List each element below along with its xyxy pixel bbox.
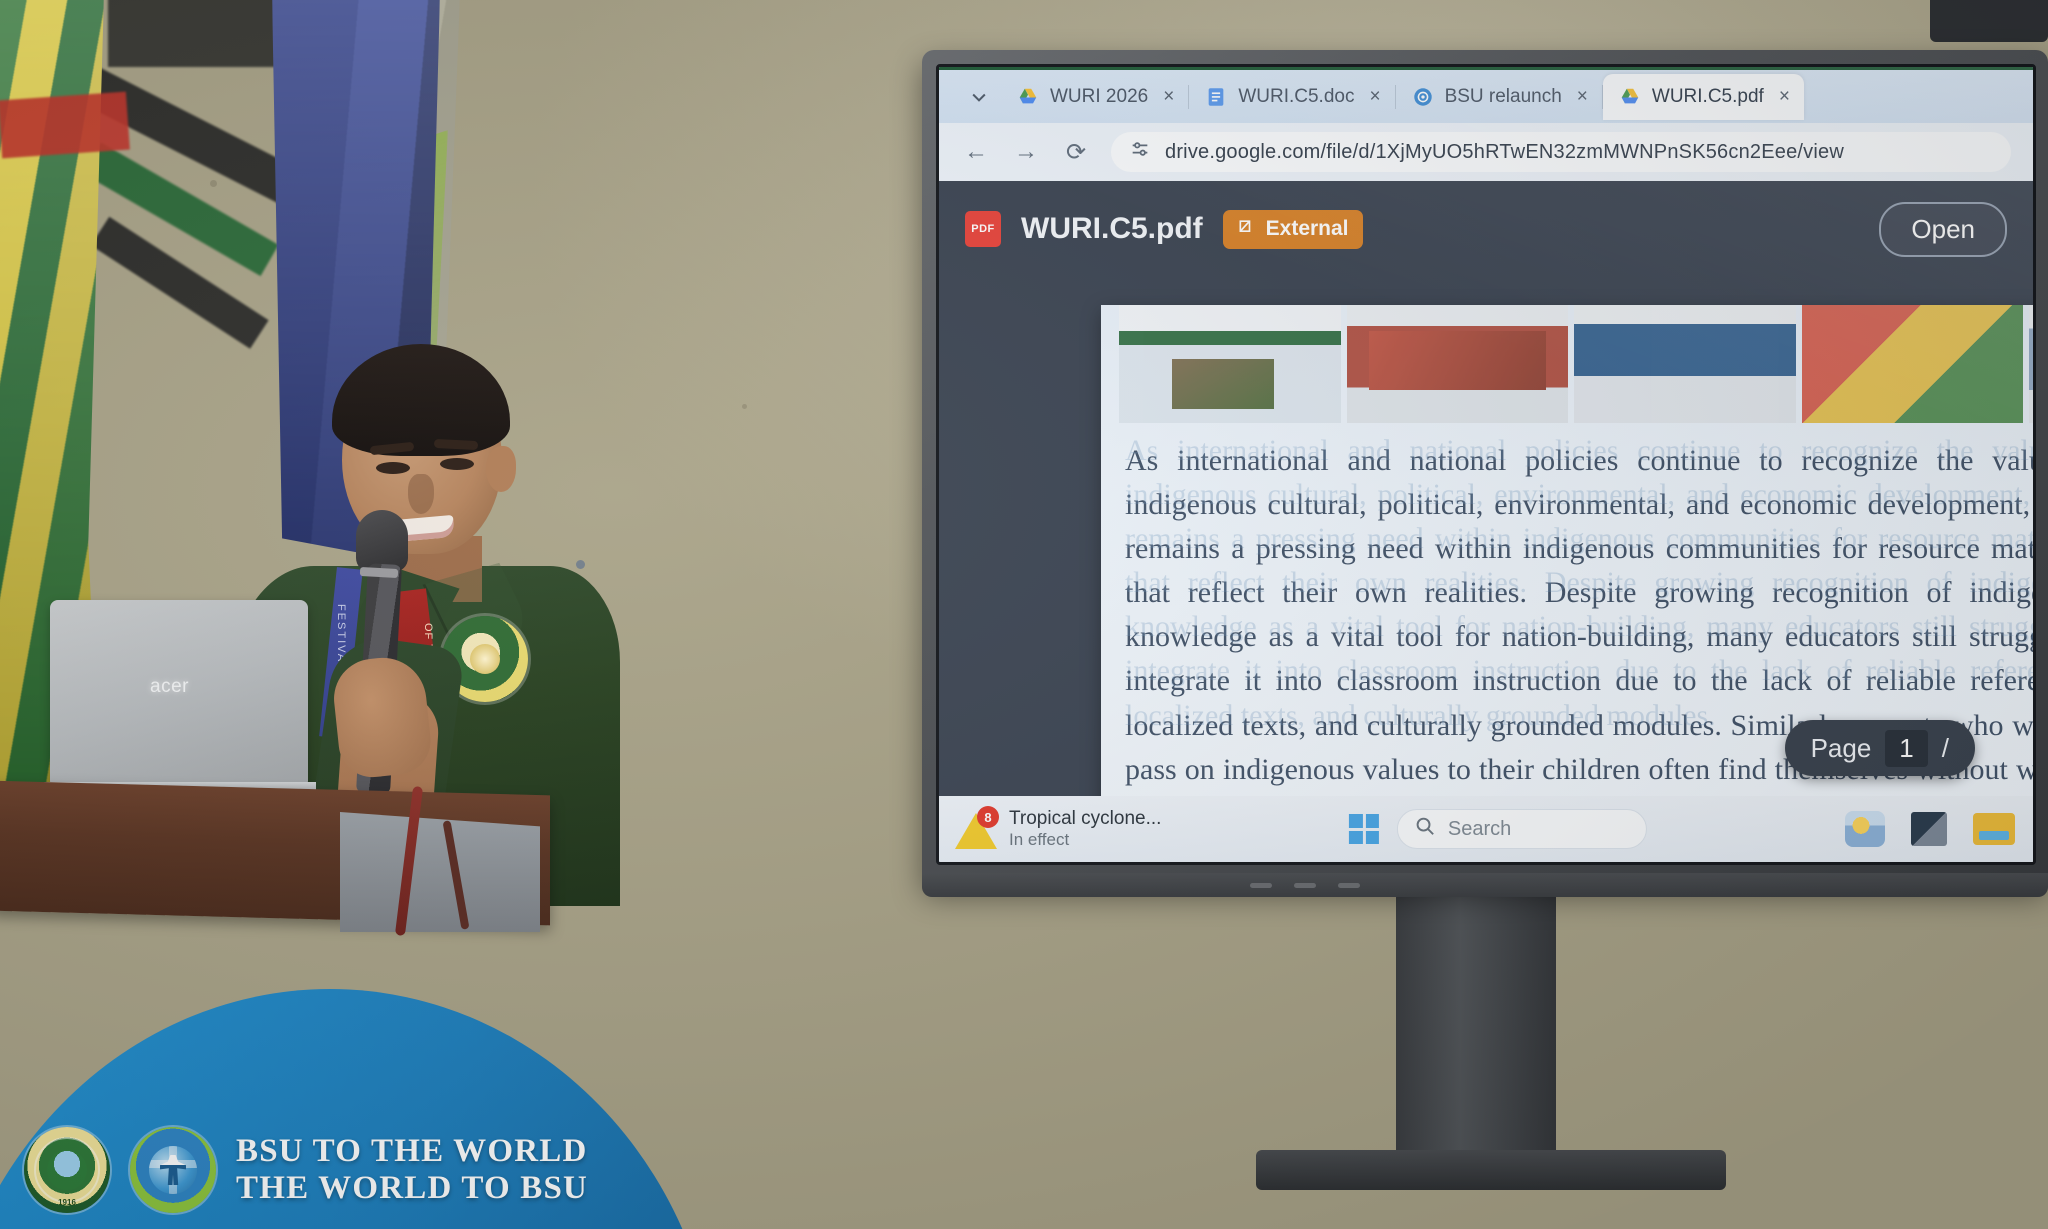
document-image-strip	[1119, 305, 2033, 423]
doc-image-thumb	[1574, 305, 1796, 423]
branding-content: 1916 BSU TO THE WORLD THE WORLD TO BSU	[24, 1127, 588, 1213]
display-stand-base	[1256, 1150, 1726, 1190]
start-icon[interactable]	[1349, 814, 1379, 844]
doc-image-thumb	[1347, 305, 1569, 423]
pdf-file-icon: PDF	[965, 211, 1001, 247]
taskbar-center-group: Search	[1349, 809, 1647, 849]
app-icon[interactable]	[1911, 812, 1947, 846]
page-indicator[interactable]: Page 1 /	[1785, 720, 1975, 776]
search-input[interactable]: Search	[1397, 809, 1647, 849]
weather-icon[interactable]	[1845, 811, 1885, 847]
close-icon[interactable]: ×	[1573, 86, 1592, 108]
reload-icon[interactable]: ⟳	[1061, 138, 1091, 167]
external-badge-label: External	[1266, 217, 1349, 241]
external-warning-icon	[1237, 217, 1257, 242]
screenshot-stage: FESTIVAL OF OF TALENT acer	[0, 0, 2048, 1229]
weather-alert-widget[interactable]: 8 Tropical cyclone... In effect	[955, 807, 1255, 851]
display-screen: WURI 2026 × WURI.C	[936, 64, 2036, 865]
microphone-ring	[360, 567, 398, 578]
tab-bsu-relaunch[interactable]: BSU relaunch ×	[1396, 74, 1602, 120]
university-seal-icon: 1916	[24, 1127, 110, 1213]
doc-image-thumb	[1802, 305, 2024, 423]
page-number[interactable]: 1	[1885, 730, 1927, 767]
world-logo-icon	[130, 1127, 216, 1213]
flag-red-stripe	[0, 92, 130, 159]
drive-icon	[1017, 86, 1039, 108]
search-icon	[1414, 815, 1436, 843]
page-separator: /	[1942, 733, 1949, 764]
tab-wuri-2026[interactable]: WURI 2026 ×	[1001, 74, 1188, 120]
branding-text: BSU TO THE WORLD THE WORLD TO BSU	[236, 1133, 588, 1207]
weather-warning-icon: 8	[955, 809, 997, 849]
drive-icon	[1619, 86, 1641, 108]
pdf-document-area[interactable]: As international and national policies c…	[939, 277, 2033, 862]
tab-title: WURI.C5.doc	[1238, 86, 1354, 108]
tab-wuri-c5-doc[interactable]: WURI.C5.doc ×	[1189, 74, 1394, 120]
open-with-button[interactable]: Open	[1879, 202, 2007, 257]
display-vent-dots	[1250, 883, 1360, 888]
browser-toolbar: ← → ⟳ drive.google.com/file/d/1XjMyUO5hR…	[939, 123, 2033, 181]
podium-front-panel	[340, 812, 540, 932]
site-settings-icon[interactable]	[1129, 138, 1151, 166]
doc-image-thumb	[2029, 305, 2033, 423]
forward-icon[interactable]: →	[1011, 138, 1041, 166]
wall-display: WURI 2026 × WURI.C	[922, 50, 2048, 885]
laptop-brand-logo: acer	[150, 676, 210, 698]
wall-mark	[742, 404, 747, 409]
display-stand-neck	[1396, 897, 1556, 1157]
tab-title: WURI.C5.pdf	[1652, 86, 1764, 108]
presenter-nose	[408, 474, 434, 514]
weather-alert-status: In effect	[1009, 830, 1161, 851]
close-icon[interactable]: ×	[1775, 86, 1794, 108]
search-placeholder: Search	[1448, 818, 1511, 841]
tab-wuri-c5-pdf[interactable]: WURI.C5.pdf ×	[1603, 74, 1804, 120]
branding-line-2: THE WORLD TO BSU	[236, 1170, 588, 1207]
ceiling-fixture	[1930, 0, 2048, 42]
file-name: WURI.C5.pdf	[1021, 212, 1203, 246]
file-explorer-icon[interactable]	[1973, 813, 2015, 845]
pdf-page: As international and national policies c…	[1101, 305, 2033, 862]
windows-taskbar: 8 Tropical cyclone... In effect	[939, 796, 2033, 862]
tab-title: BSU relaunch	[1445, 86, 1562, 108]
seal-year: 1916	[58, 1198, 76, 1207]
wall-mark	[210, 180, 217, 187]
weather-alert-text: Tropical cyclone... In effect	[1009, 807, 1161, 851]
display-bottom-bezel	[922, 873, 2048, 897]
weather-alert-title: Tropical cyclone...	[1009, 807, 1161, 830]
taskbar-tray	[1845, 811, 2015, 847]
browser-tabstrip: WURI 2026 × WURI.C	[939, 67, 2033, 123]
tab-title: WURI 2026	[1050, 86, 1148, 108]
microphone-head	[356, 510, 408, 572]
presenter-ear	[486, 446, 516, 492]
close-icon[interactable]: ×	[1159, 86, 1178, 108]
address-bar[interactable]: drive.google.com/file/d/1XjMyUO5hRTwEN32…	[1111, 132, 2011, 172]
globe-icon	[1412, 86, 1434, 108]
docs-icon	[1205, 86, 1227, 108]
url-text: drive.google.com/file/d/1XjMyUO5hRTwEN32…	[1165, 141, 1844, 164]
external-badge: External	[1223, 210, 1363, 249]
chevron-down-icon[interactable]	[957, 87, 1001, 107]
browser-window: WURI 2026 × WURI.C	[939, 67, 2033, 862]
ceiling-beam	[108, 0, 283, 67]
alert-count-badge: 8	[977, 806, 999, 828]
presenter-eye-left	[376, 462, 410, 474]
page-label: Page	[1811, 733, 1872, 764]
close-icon[interactable]: ×	[1365, 86, 1384, 108]
branding-line-1: BSU TO THE WORLD	[236, 1133, 588, 1170]
doc-image-thumb	[1119, 305, 1341, 423]
back-icon[interactable]: ←	[961, 138, 991, 166]
presenter-hair	[332, 344, 510, 456]
presenter-eye-right	[440, 458, 474, 470]
drive-viewer-header: PDF WURI.C5.pdf External Open	[939, 181, 2033, 277]
